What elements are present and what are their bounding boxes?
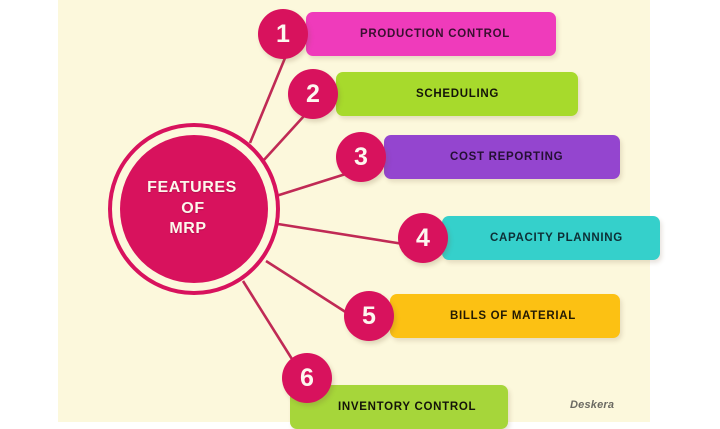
feature-bar-5[interactable]: BILLS OF MATERIAL xyxy=(390,294,620,338)
feature-number-6: 6 xyxy=(300,366,314,391)
hub-center: FEATURES OF MRP xyxy=(120,135,268,283)
feature-number-5: 5 xyxy=(362,304,376,329)
feature-label-1: PRODUCTION CONTROL xyxy=(360,28,510,40)
feature-number-4: 4 xyxy=(416,226,430,251)
feature-number-1: 1 xyxy=(276,22,290,47)
feature-badge-3[interactable]: 3 xyxy=(336,132,386,182)
feature-number-3: 3 xyxy=(354,145,368,170)
feature-bar-3[interactable]: COST REPORTING xyxy=(384,135,620,179)
feature-badge-5[interactable]: 5 xyxy=(344,291,394,341)
feature-bar-1[interactable]: PRODUCTION CONTROL xyxy=(306,12,556,56)
hub-title-line-3: MRP xyxy=(169,219,206,239)
feature-badge-1[interactable]: 1 xyxy=(258,9,308,59)
hub-title-line-2: OF xyxy=(181,199,204,219)
hub-title-line-1: FEATURES xyxy=(147,178,237,198)
feature-label-2: SCHEDULING xyxy=(416,88,499,100)
feature-badge-2[interactable]: 2 xyxy=(288,69,338,119)
feature-label-3: COST REPORTING xyxy=(450,151,563,163)
feature-badge-4[interactable]: 4 xyxy=(398,213,448,263)
feature-bar-4[interactable]: CAPACITY PLANNING xyxy=(442,216,660,260)
feature-badge-6[interactable]: 6 xyxy=(282,353,332,403)
feature-number-2: 2 xyxy=(306,82,320,107)
infographic-canvas: FEATURES OF MRP PRODUCTION CONTROL 1 SCH… xyxy=(0,0,720,422)
watermark-logo: Deskera xyxy=(570,399,614,411)
feature-label-4: CAPACITY PLANNING xyxy=(490,232,623,244)
feature-bar-2[interactable]: SCHEDULING xyxy=(336,72,578,116)
feature-label-6: INVENTORY CONTROL xyxy=(338,401,476,413)
feature-label-5: BILLS OF MATERIAL xyxy=(450,310,576,322)
